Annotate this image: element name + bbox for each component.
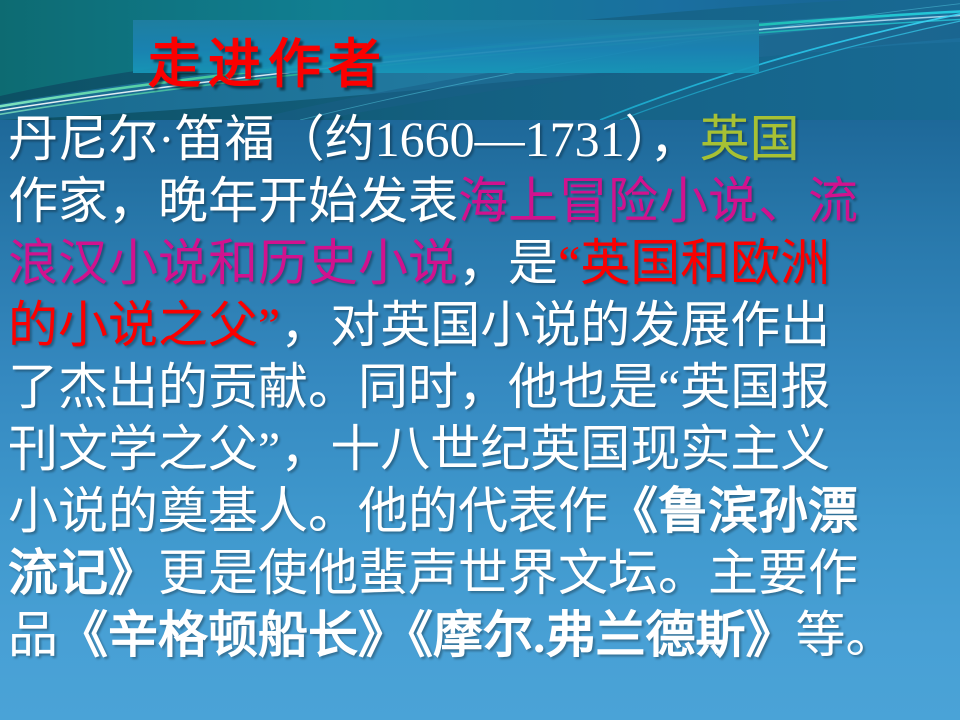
text-run: 浪汉小说和历史小说 bbox=[8, 235, 458, 291]
book-title-run: 《鲁滨孙漂 bbox=[608, 483, 858, 539]
text-run: 品 bbox=[8, 607, 58, 663]
text-run: 了杰出的贡献。同时，他也是“英国报 bbox=[8, 359, 830, 415]
book-title-run: 《辛格顿船长》《摩尔.弗兰德斯》 bbox=[58, 607, 796, 663]
text-line: 了杰出的贡献。同时，他也是“英国报 bbox=[8, 356, 958, 418]
text-line: 浪汉小说和历史小说，是“英国和欧洲 bbox=[8, 232, 958, 294]
text-line: 的小说之父”，对英国小说的发展作出 bbox=[8, 294, 958, 356]
text-line: 品《辛格顿船长》《摩尔.弗兰德斯》等。 bbox=[8, 604, 958, 666]
text-run: 更是使他蜚声世界文坛。主要作 bbox=[158, 545, 858, 601]
presentation-slide: 走进作者 丹尼尔·笛福（约1660—1731），英国 作家，晚年开始发表海上冒险… bbox=[0, 0, 960, 720]
text-line: 流记》更是使他蜚声世界文坛。主要作 bbox=[8, 542, 958, 604]
text-run: 英国 bbox=[700, 111, 800, 167]
text-run: 丹尼尔·笛福（约1660—1731）， bbox=[8, 111, 700, 167]
text-run: 刊文学之父”，十八世纪英国现实主义 bbox=[8, 421, 830, 477]
page-title: 走进作者 bbox=[148, 38, 388, 91]
text-line: 刊文学之父”，十八世纪英国现实主义 bbox=[8, 418, 958, 480]
text-line: 小说的奠基人。他的代表作《鲁滨孙漂 bbox=[8, 480, 958, 542]
book-title-run: 流记》 bbox=[8, 545, 158, 601]
text-run: “英国和欧洲 bbox=[558, 235, 830, 291]
text-run: 的小说之父” bbox=[8, 297, 280, 353]
text-run: 作家，晚年开始发表 bbox=[8, 173, 458, 229]
text-line: 作家，晚年开始发表海上冒险小说、流 bbox=[8, 170, 958, 232]
text-run: 等。 bbox=[796, 607, 896, 663]
text-run: ，是 bbox=[458, 235, 558, 291]
text-run: 小说的奠基人。他的代表作 bbox=[8, 483, 608, 539]
text-run: ，对英国小说的发展作出 bbox=[280, 297, 830, 353]
text-line: 丹尼尔·笛福（约1660—1731），英国 bbox=[8, 108, 958, 170]
text-run: 海上冒险小说、流 bbox=[458, 173, 858, 229]
body-paragraph: 丹尼尔·笛福（约1660—1731），英国 作家，晚年开始发表海上冒险小说、流 … bbox=[8, 108, 958, 666]
